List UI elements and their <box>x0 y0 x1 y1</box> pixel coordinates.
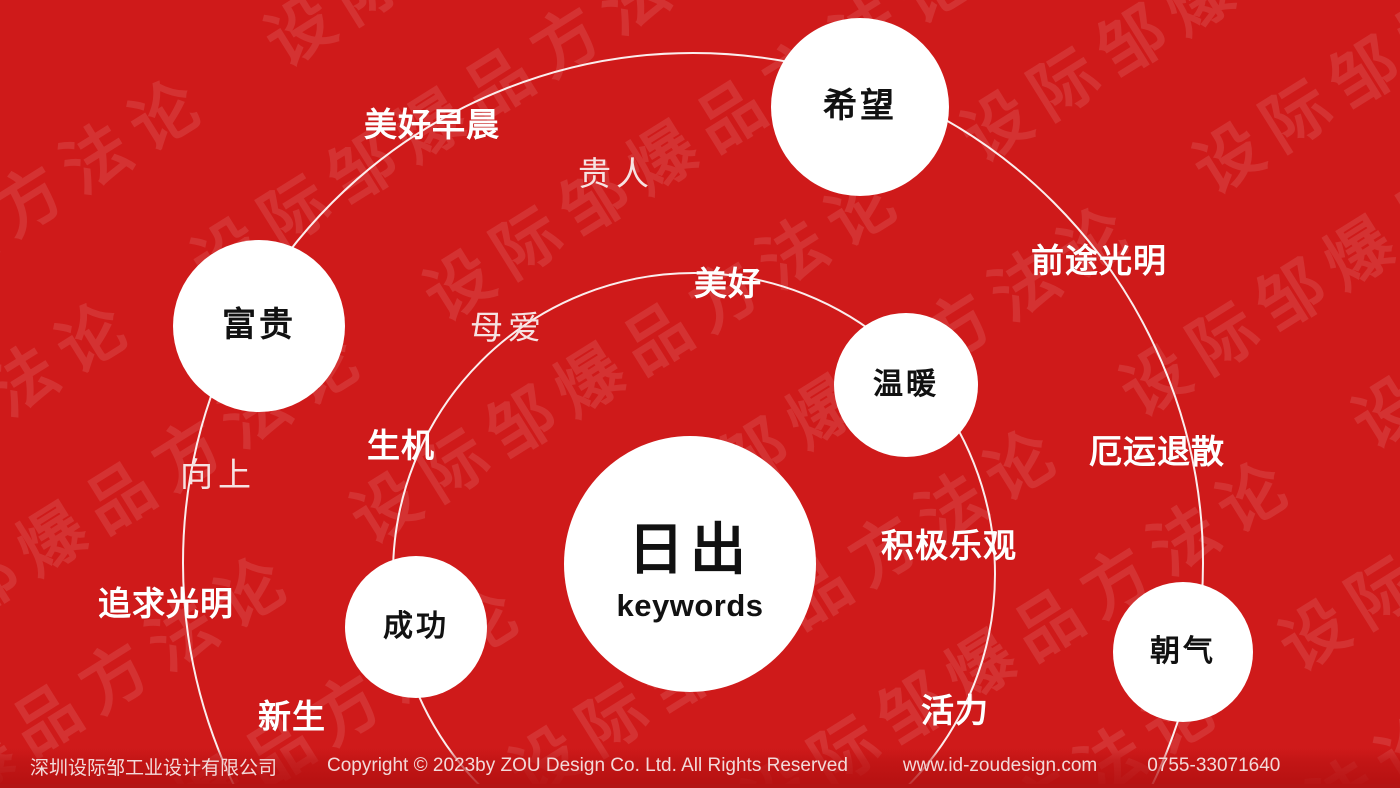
label-energy: 活力 <box>921 694 989 727</box>
node-wealth-label: 富贵 <box>222 308 296 344</box>
label-beautiful-morning: 美好早晨 <box>364 108 500 141</box>
node-success-label: 成功 <box>383 611 449 643</box>
footer-phone: 0755-33071640 <box>1147 755 1280 777</box>
slide-canvas: 设际邹爆品方法论 设际邹爆品方法论 设际邹爆品方法论 设际邹爆品方法论 设际邹爆… <box>0 0 1400 788</box>
label-noble-person: 贵人 <box>578 157 654 190</box>
node-hope[interactable]: 希望 <box>771 18 949 196</box>
footer-bar: 深圳设际邹工业设计有限公司 Copyright © 2023by ZOU Des… <box>0 748 1400 788</box>
node-hope-label: 希望 <box>823 89 897 125</box>
footer-website[interactable]: www.id-zoudesign.com <box>903 755 1097 777</box>
label-bright-future: 前途光明 <box>1031 244 1167 277</box>
center-node-cn-label: 日出 <box>628 505 752 586</box>
node-vigor-label: 朝气 <box>1150 636 1216 668</box>
center-node-en-label: keywords <box>616 588 763 624</box>
label-bad-luck-dispel: 厄运退散 <box>1089 435 1225 468</box>
label-positive-optimism: 积极乐观 <box>881 529 1017 562</box>
footer-copyright: Copyright © 2023by ZOU Design Co. Ltd. A… <box>327 755 848 777</box>
label-upward: 向上 <box>180 458 256 491</box>
label-new-life: 新生 <box>258 700 326 733</box>
label-beautiful: 美好 <box>694 267 762 300</box>
label-motherly-love: 母爱 <box>470 311 546 344</box>
node-vigor[interactable]: 朝气 <box>1113 582 1253 722</box>
center-keyword-node[interactable]: 日出 keywords <box>564 436 816 692</box>
node-wealth[interactable]: 富贵 <box>173 240 345 412</box>
footer-company: 深圳设际邹工业设计有限公司 <box>30 753 277 780</box>
node-warm[interactable]: 温暖 <box>834 313 978 457</box>
label-pursue-light: 追求光明 <box>98 587 234 620</box>
label-vitality: 生机 <box>367 429 435 462</box>
node-success[interactable]: 成功 <box>345 556 487 698</box>
node-warm-label: 温暖 <box>873 369 939 401</box>
